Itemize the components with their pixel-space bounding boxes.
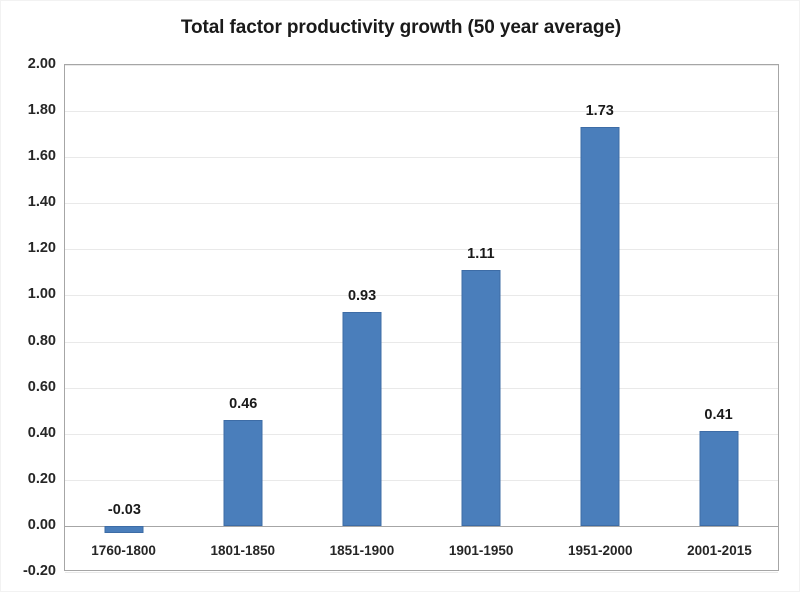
bar[interactable] [343,312,382,526]
bar-value-label: -0.03 [108,502,141,518]
x-axis-tick-label: 1760-1800 [64,534,183,570]
bar-value-label: 1.11 [467,246,494,262]
x-axis-tick-label: 1951-2000 [541,534,660,570]
bar[interactable] [224,420,263,526]
y-axis-tick-label: 0.80 [28,333,56,349]
plot-frame: -0.030.460.931.111.730.41 [64,64,779,571]
y-axis: 2.001.801.601.401.201.000.800.600.400.20… [1,64,56,571]
bar-group: 1.73 [540,65,659,570]
gridline [65,572,778,573]
bar[interactable] [699,431,738,525]
x-axis: 1760-18001801-18501851-19001901-19501951… [64,534,779,570]
bar-value-label: 0.46 [229,396,257,412]
x-axis-tick-label: 1851-1900 [302,534,421,570]
bar-group: 0.41 [659,65,778,570]
bar[interactable] [105,526,144,533]
bar-group: -0.03 [65,65,184,570]
bar[interactable] [580,127,619,526]
y-axis-tick-label: 1.40 [28,194,56,210]
bar-value-label: 0.41 [704,407,732,423]
bars-layer: -0.030.460.931.111.730.41 [65,65,778,570]
x-axis-tick-label: 1801-1850 [183,534,302,570]
x-axis-tick-label: 1901-1950 [422,534,541,570]
y-axis-tick-label: 0.20 [28,471,56,487]
bar[interactable] [461,270,500,526]
chart-title: Total factor productivity growth (50 yea… [1,17,800,39]
x-axis-tick-label: 2001-2015 [660,534,779,570]
y-axis-tick-label: 1.20 [28,240,56,256]
y-axis-tick-label: -0.20 [23,563,56,579]
y-axis-tick-label: 1.00 [28,286,56,302]
bar-value-label: 1.73 [586,103,614,119]
y-axis-tick-label: 2.00 [28,56,56,72]
bar-group: 1.11 [421,65,540,570]
y-axis-tick-label: 0.40 [28,425,56,441]
bar-group: 0.46 [184,65,303,570]
y-axis-tick-label: 1.60 [28,148,56,164]
y-axis-tick-label: 1.80 [28,102,56,118]
bar-group: 0.93 [303,65,422,570]
bar-value-label: 0.93 [348,288,376,304]
chart-canvas: Total factor productivity growth (50 yea… [0,0,800,592]
y-axis-tick-label: 0.60 [28,379,56,395]
y-axis-tick-label: 0.00 [28,517,56,533]
